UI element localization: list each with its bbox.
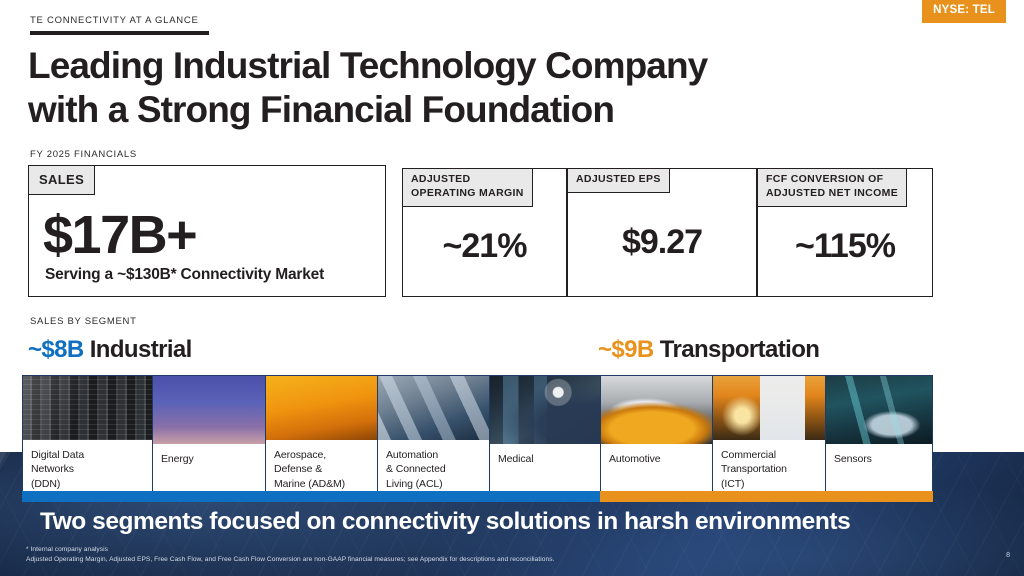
adjusted-operating-margin-card: ADJUSTED OPERATING MARGIN ~21% xyxy=(402,168,567,297)
eyebrow-block: TE CONNECTIVITY AT A GLANCE xyxy=(30,15,209,35)
industrial-underbar xyxy=(22,491,600,502)
highway-sensor-photo xyxy=(826,376,932,444)
segment-card-label: Automation & Connected Living (ACL) xyxy=(378,440,489,491)
footer-banner-text: Two segments focused on connectivity sol… xyxy=(40,508,850,536)
segment-card-strip: Digital Data Networks (DDN) Energy Aeros… xyxy=(22,375,933,492)
segment-card-label: Sensors xyxy=(826,444,932,491)
segment-card-adm[interactable]: Aerospace, Defense & Marine (AD&M) xyxy=(266,376,378,491)
segment-card-label: Medical xyxy=(490,444,600,491)
segment-card-label: Energy xyxy=(153,444,265,491)
eyebrow-underline xyxy=(30,31,209,35)
segment-card-label: Aerospace, Defense & Marine (AD&M) xyxy=(266,440,377,491)
sales-subtitle: Serving a ~$130B* Connectivity Market xyxy=(45,266,324,284)
data-center-photo xyxy=(23,376,152,440)
footnote-2: Adjusted Operating Margin, Adjusted EPS,… xyxy=(26,556,554,563)
industrial-segment-heading: ~$8B Industrial xyxy=(28,336,192,364)
financials-section-label: FY 2025 FINANCIALS xyxy=(30,149,137,160)
segment-card-ddn[interactable]: Digital Data Networks (DDN) xyxy=(23,376,153,491)
nyse-ticker-badge: NYSE: TEL xyxy=(922,0,1006,23)
power-grid-photo xyxy=(153,376,265,444)
transportation-underbar xyxy=(600,491,933,502)
operating-room-photo xyxy=(490,376,600,444)
industrial-amount: ~$8B xyxy=(28,336,84,363)
eyebrow-text: TE CONNECTIVITY AT A GLANCE xyxy=(30,15,209,26)
page-number: 8 xyxy=(1006,552,1010,559)
segment-card-label: Commercial Transportation (ICT) xyxy=(713,440,825,491)
sales-tag: SALES xyxy=(28,165,95,195)
industrial-name: Industrial xyxy=(90,336,192,363)
transportation-segment-heading: ~$9B Transportation xyxy=(598,336,819,364)
segment-card-sensors[interactable]: Sensors xyxy=(826,376,932,491)
transportation-amount: ~$9B xyxy=(598,336,654,363)
slide-canvas: NYSE: TEL TE CONNECTIVITY AT A GLANCE Le… xyxy=(0,0,1024,576)
segment-card-acl[interactable]: Automation & Connected Living (ACL) xyxy=(378,376,490,491)
sports-car-photo xyxy=(601,376,712,444)
adjusted-eps-tag: ADJUSTED EPS xyxy=(567,168,670,193)
segment-card-medical[interactable]: Medical xyxy=(490,376,601,491)
adjusted-operating-margin-value: ~21% xyxy=(403,227,566,266)
semi-truck-photo xyxy=(713,376,825,440)
segment-card-label: Automotive xyxy=(601,444,712,491)
sales-value: $17B+ xyxy=(43,208,196,262)
fcf-conversion-card: FCF CONVERSION OF ADJUSTED NET INCOME ~1… xyxy=(757,168,933,297)
segment-card-automotive[interactable]: Automotive xyxy=(601,376,713,491)
segment-card-label: Digital Data Networks (DDN) xyxy=(23,440,152,491)
sales-by-segment-label: SALES BY SEGMENT xyxy=(30,316,137,327)
adjusted-eps-card: ADJUSTED EPS $9.27 xyxy=(567,168,757,297)
transportation-name: Transportation xyxy=(660,336,820,363)
sales-metric-card: SALES $17B+ Serving a ~$130B* Connectivi… xyxy=(28,165,386,297)
segment-card-ict[interactable]: Commercial Transportation (ICT) xyxy=(713,376,826,491)
footnote-1: * Internal company analysis xyxy=(26,546,108,553)
robot-arms-photo xyxy=(378,376,489,440)
page-title: Leading Industrial Technology Company wi… xyxy=(28,44,707,132)
fcf-conversion-tag: FCF CONVERSION OF ADJUSTED NET INCOME xyxy=(757,168,907,207)
adjusted-eps-value: $9.27 xyxy=(568,223,756,262)
fcf-conversion-value: ~115% xyxy=(758,227,932,266)
airplane-photo xyxy=(266,376,377,440)
segment-card-energy[interactable]: Energy xyxy=(153,376,266,491)
adjusted-operating-margin-tag: ADJUSTED OPERATING MARGIN xyxy=(402,168,533,207)
